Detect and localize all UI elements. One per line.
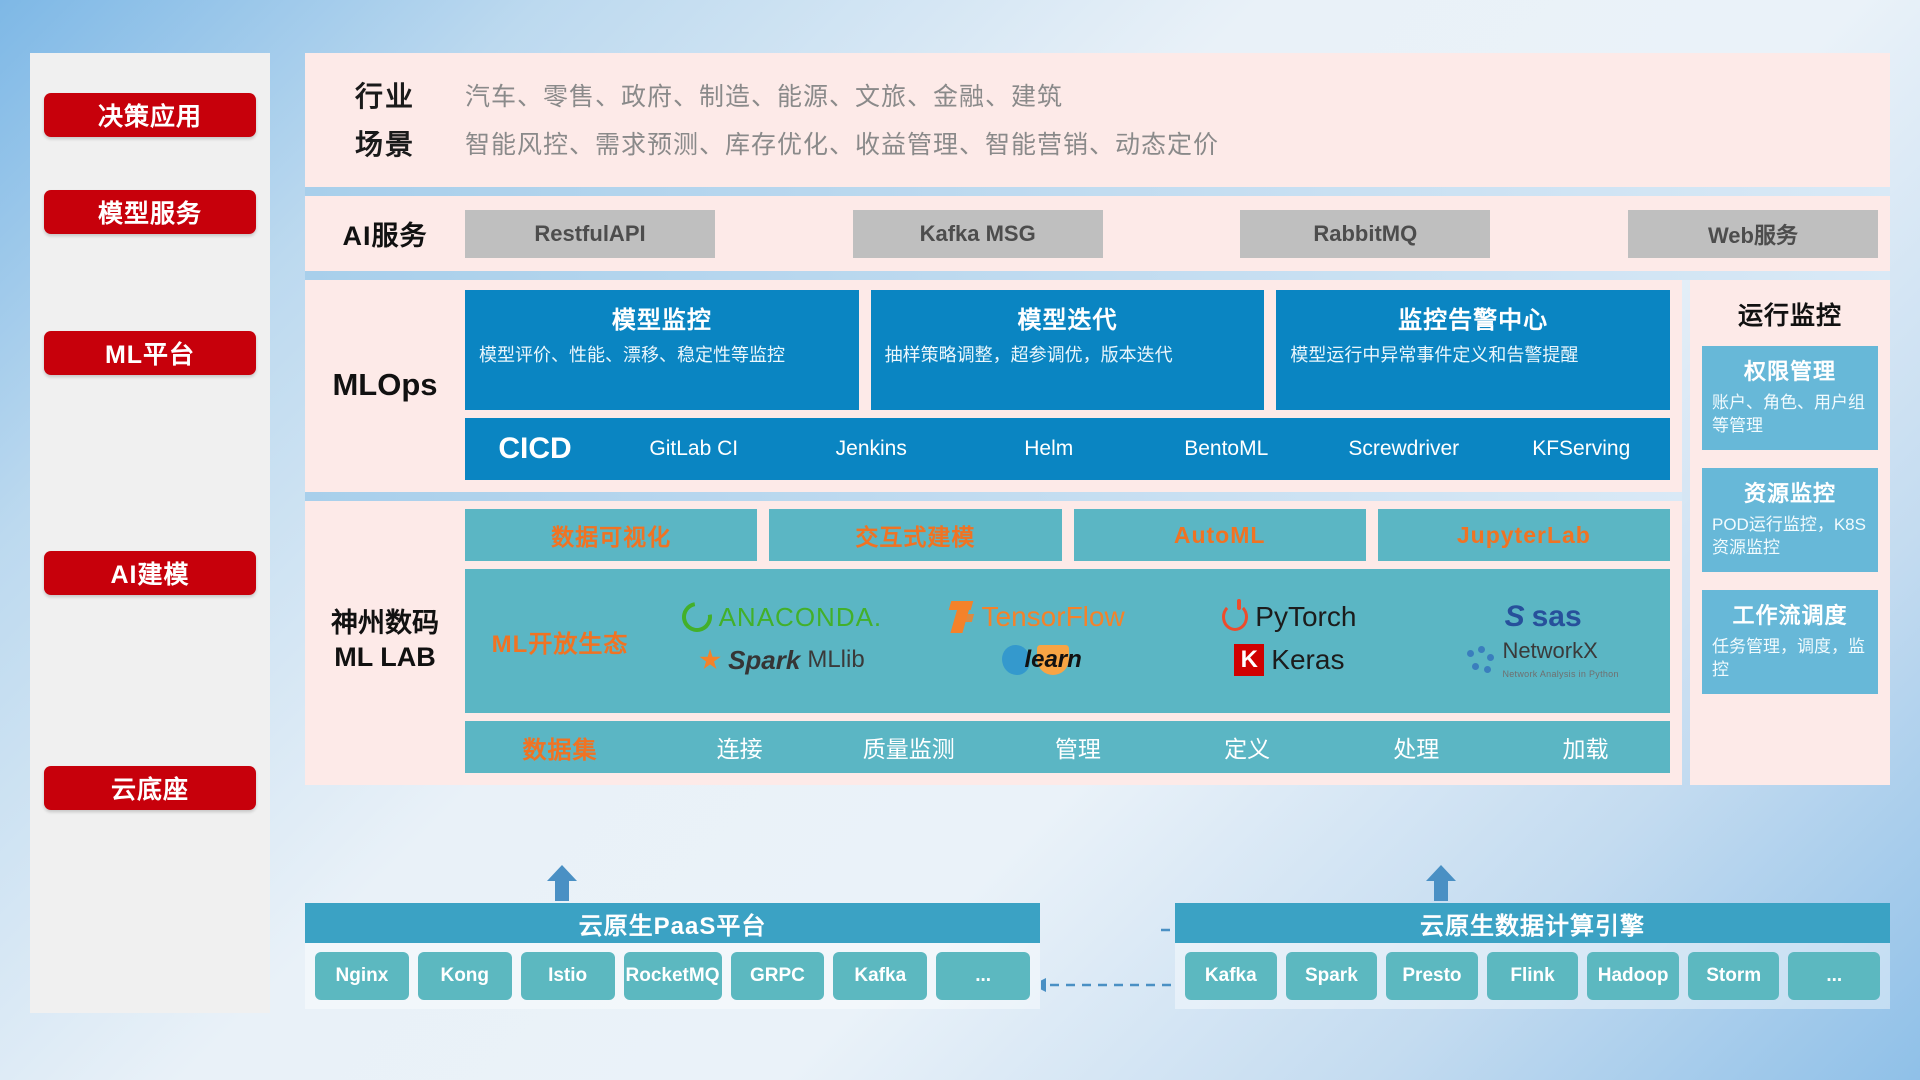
dataset-row: 数据集 连接 质量监测 管理 定义 处理 加载 — [465, 721, 1670, 773]
rail-item-model-service[interactable]: 模型服务 — [44, 190, 256, 234]
card-desc: 账户、角色、用户组等管理 — [1712, 392, 1868, 438]
band-ai-service: AI服务 RestfulAPI Kafka MSG RabbitMQ Web服务 — [305, 196, 1890, 271]
band-ml-lab: 神州数码 ML LAB 数据可视化 交互式建模 AutoML JupyterLa… — [305, 501, 1682, 785]
dataset-item-list: 连接 质量监测 管理 定义 处理 加载 — [655, 730, 1670, 764]
paas-chip-more[interactable]: ... — [936, 952, 1030, 1000]
platform-and-monitor: MLOps 模型监控 模型评价、性能、漂移、稳定性等监控 模型迭代 抽样策略调整… — [305, 280, 1890, 785]
card-desc: 模型运行中异常事件定义和告警提醒 — [1290, 343, 1656, 367]
ml-lab-label-line1: 神州数码 — [331, 607, 439, 641]
paas-title: 云原生PaaS平台 — [305, 903, 1040, 943]
monitor-card-resource[interactable]: 资源监控 POD运行监控，K8S资源监控 — [1702, 468, 1878, 572]
arrow-up-compute-icon — [1422, 863, 1460, 901]
rail-item-decision-app[interactable]: 决策应用 — [44, 93, 256, 137]
compute-chip-list: Kafka Spark Presto Flink Hadoop Storm ..… — [1175, 943, 1890, 1009]
card-title: 工作流调度 — [1712, 598, 1868, 630]
industry-row: 行业 汽车、零售、政府、制造、能源、文旅、金融、建筑 — [305, 71, 1890, 119]
keras-logo: K Keras — [1234, 644, 1344, 676]
spark-mllib-logo: Spark MLlib — [699, 645, 865, 676]
scikit-learn-label: learn — [1024, 646, 1081, 674]
mlops-card-list: 模型监控 模型评价、性能、漂移、稳定性等监控 模型迭代 抽样策略调整，超参调优，… — [465, 290, 1670, 410]
keras-k-icon: K — [1234, 644, 1264, 676]
paas-chip-nginx[interactable]: Nginx — [315, 952, 409, 1000]
dataset-item-connect[interactable]: 连接 — [655, 730, 824, 764]
spark-label: Spark — [728, 645, 800, 676]
cicd-item-gitlab-ci[interactable]: GitLab CI — [605, 432, 783, 466]
scikit-learn-logo: learn — [1002, 645, 1069, 675]
compute-chip-storm[interactable]: Storm — [1688, 952, 1780, 1000]
monitor-panel-title: 运行监控 — [1702, 296, 1878, 332]
mllib-label: MLlib — [807, 646, 864, 674]
lab-tab-interactive-modeling[interactable]: 交互式建模 — [769, 509, 1061, 561]
industry-label: 行业 — [305, 75, 465, 115]
compute-title: 云原生数据计算引擎 — [1175, 903, 1890, 943]
lab-tab-automl[interactable]: AutoML — [1074, 509, 1366, 561]
networkx-logo: NetworkX Network Analysis in Python — [1467, 638, 1618, 682]
pytorch-flame-icon — [1222, 603, 1248, 631]
card-title: 资源监控 — [1712, 476, 1868, 508]
paas-chip-kafka[interactable]: Kafka — [833, 952, 927, 1000]
main-column: 行业 汽车、零售、政府、制造、能源、文旅、金融、建筑 场景 智能风控、需求预测、… — [305, 53, 1890, 785]
monitor-panel: 运行监控 权限管理 账户、角色、用户组等管理 资源监控 POD运行监控，K8S资… — [1690, 280, 1890, 785]
networkx-text-block: NetworkX Network Analysis in Python — [1502, 638, 1618, 682]
card-title: 模型监控 — [479, 300, 845, 335]
cicd-item-screwdriver[interactable]: Screwdriver — [1315, 432, 1493, 466]
networkx-subtitle: Network Analysis in Python — [1502, 669, 1618, 679]
mlops-card-alert-center[interactable]: 监控告警中心 模型运行中异常事件定义和告警提醒 — [1276, 290, 1670, 410]
lab-tab-data-visualization[interactable]: 数据可视化 — [465, 509, 757, 561]
rail-item-cloud-base[interactable]: 云底座 — [44, 766, 256, 810]
sas-label: sas — [1532, 600, 1582, 634]
ai-service-chip-list: RestfulAPI Kafka MSG RabbitMQ Web服务 — [465, 210, 1890, 258]
band-separator — [305, 492, 1682, 501]
compute-group: 云原生数据计算引擎 Kafka Spark Presto Flink Hadoo… — [1175, 903, 1890, 1009]
compute-chip-kafka[interactable]: Kafka — [1185, 952, 1277, 1000]
ml-ecosystem-logo-grid: ANACONDA. TensorFlow PyTorch — [655, 600, 1670, 682]
spark-star-icon — [699, 649, 721, 671]
ml-lab-label: 神州数码 ML LAB — [305, 509, 465, 773]
scenario-values: 智能风控、需求预测、库存优化、收益管理、智能营销、动态定价 — [465, 125, 1219, 161]
lab-tab-list: 数据可视化 交互式建模 AutoML JupyterLab — [465, 509, 1670, 561]
ml-ecosystem-label: ML开放生态 — [465, 624, 655, 659]
cicd-label: CICD — [465, 432, 605, 466]
dataset-label: 数据集 — [465, 730, 655, 765]
anaconda-label: ANACONDA. — [719, 602, 883, 633]
lab-tab-jupyterlab[interactable]: JupyterLab — [1378, 509, 1670, 561]
networkx-graph-icon — [1467, 646, 1495, 674]
sas-swirl-icon: S — [1505, 600, 1525, 634]
dataset-item-process[interactable]: 处理 — [1332, 730, 1501, 764]
sas-logo: S sas — [1505, 600, 1582, 634]
tensorflow-mark-icon — [947, 601, 975, 633]
mlops-label: MLOps — [305, 290, 465, 480]
mlops-card-model-iteration[interactable]: 模型迭代 抽样策略调整，超参调优，版本迭代 — [871, 290, 1265, 410]
paas-group: 云原生PaaS平台 Nginx Kong Istio RocketMQ GRPC… — [305, 903, 1040, 1009]
paas-chip-rocketmq[interactable]: RocketMQ — [624, 952, 722, 1000]
industry-values: 汽车、零售、政府、制造、能源、文旅、金融、建筑 — [465, 77, 1063, 113]
arrow-up-paas-icon — [543, 863, 581, 901]
dataset-item-manage[interactable]: 管理 — [993, 730, 1162, 764]
compute-chip-flink[interactable]: Flink — [1487, 952, 1579, 1000]
card-title: 权限管理 — [1712, 354, 1868, 386]
scenario-label: 场景 — [305, 123, 465, 163]
compute-chip-more[interactable]: ... — [1788, 952, 1880, 1000]
pytorch-logo: PyTorch — [1222, 601, 1356, 633]
monitor-card-workflow[interactable]: 工作流调度 任务管理，调度，监控 — [1702, 590, 1878, 694]
card-desc: 抽样策略调整，超参调优，版本迭代 — [885, 343, 1251, 367]
compute-chip-presto[interactable]: Presto — [1386, 952, 1478, 1000]
bottom-foundation: 云原生PaaS平台 Nginx Kong Istio RocketMQ GRPC… — [305, 875, 1890, 1035]
cicd-item-bentoml[interactable]: BentoML — [1138, 432, 1316, 466]
left-rail: 决策应用 模型服务 ML平台 AI建模 云底座 — [30, 53, 270, 1013]
scikit-orange-blob-icon: learn — [1037, 645, 1069, 675]
tensorflow-logo: TensorFlow — [947, 601, 1125, 633]
card-desc: 任务管理，调度，监控 — [1712, 636, 1868, 682]
dataset-item-load[interactable]: 加载 — [1501, 730, 1670, 764]
monitor-card-permission[interactable]: 权限管理 账户、角色、用户组等管理 — [1702, 346, 1878, 450]
chip-restful-api[interactable]: RestfulAPI — [465, 210, 715, 258]
card-title: 模型迭代 — [885, 300, 1251, 335]
band-separator — [305, 187, 1890, 196]
cicd-item-kfserving[interactable]: KFServing — [1493, 432, 1671, 466]
keras-label: Keras — [1271, 644, 1344, 676]
rail-item-ai-modeling[interactable]: AI建模 — [44, 551, 256, 595]
paas-chip-grpc[interactable]: GRPC — [731, 952, 825, 1000]
scenario-row: 场景 智能风控、需求预测、库存优化、收益管理、智能营销、动态定价 — [305, 119, 1890, 167]
mlops-card-model-monitoring[interactable]: 模型监控 模型评价、性能、漂移、稳定性等监控 — [465, 290, 859, 410]
chip-kafka-msg[interactable]: Kafka MSG — [853, 210, 1103, 258]
dataset-item-define[interactable]: 定义 — [1163, 730, 1332, 764]
pytorch-label: PyTorch — [1255, 601, 1356, 633]
card-desc: 模型评价、性能、漂移、稳定性等监控 — [479, 343, 845, 367]
ml-lab-label-line2: ML LAB — [331, 641, 439, 675]
networkx-label: NetworkX — [1502, 638, 1597, 663]
anaconda-ring-icon — [676, 596, 718, 638]
tensorflow-label: TensorFlow — [982, 601, 1125, 633]
card-desc: POD运行监控，K8S资源监控 — [1712, 514, 1868, 560]
cicd-item-helm[interactable]: Helm — [960, 432, 1138, 466]
compute-chip-spark[interactable]: Spark — [1286, 952, 1378, 1000]
chip-web-service[interactable]: Web服务 — [1628, 210, 1878, 258]
ml-ecosystem-panel: ML开放生态 ANACONDA. TensorFlow — [465, 569, 1670, 713]
cicd-item-list: GitLab CI Jenkins Helm BentoML Screwdriv… — [605, 432, 1670, 466]
compute-chip-hadoop[interactable]: Hadoop — [1587, 952, 1679, 1000]
band-separator — [305, 271, 1890, 280]
chip-rabbitmq[interactable]: RabbitMQ — [1240, 210, 1490, 258]
cicd-row: CICD GitLab CI Jenkins Helm BentoML Scre… — [465, 418, 1670, 480]
paas-chip-istio[interactable]: Istio — [521, 952, 615, 1000]
anaconda-logo: ANACONDA. — [682, 602, 883, 633]
band-industry-scenario: 行业 汽车、零售、政府、制造、能源、文旅、金融、建筑 场景 智能风控、需求预测、… — [305, 53, 1890, 187]
card-title: 监控告警中心 — [1290, 300, 1656, 335]
cicd-item-jenkins[interactable]: Jenkins — [783, 432, 961, 466]
band-mlops: MLOps 模型监控 模型评价、性能、漂移、稳定性等监控 模型迭代 抽样策略调整… — [305, 280, 1682, 492]
dataset-item-quality[interactable]: 质量监测 — [824, 730, 993, 764]
diagram-canvas: 决策应用 模型服务 ML平台 AI建模 云底座 行业 汽车、零售、政府、制造、能… — [0, 0, 1920, 1080]
paas-chip-kong[interactable]: Kong — [418, 952, 512, 1000]
rail-item-ml-platform[interactable]: ML平台 — [44, 331, 256, 375]
ai-service-label: AI服务 — [305, 214, 465, 253]
paas-chip-list: Nginx Kong Istio RocketMQ GRPC Kafka ... — [305, 943, 1040, 1009]
